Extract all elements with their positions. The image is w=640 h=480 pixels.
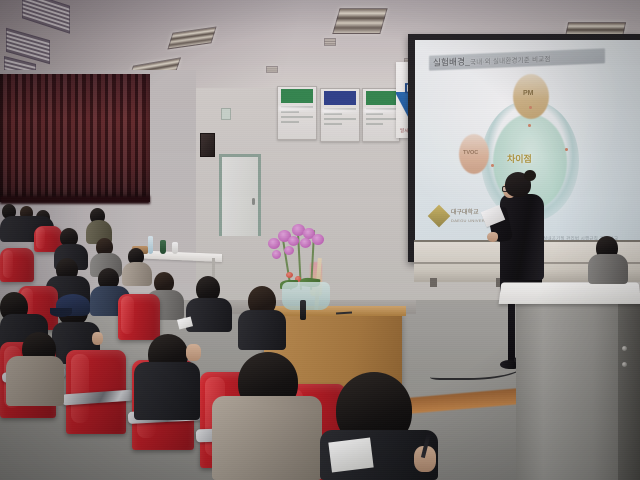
paper-cup[interactable] [172,242,178,254]
lectern-fastener-upper [622,346,627,351]
ceiling-light-8 [266,66,278,73]
poster-glare [322,108,358,113]
water-bottle[interactable] [148,236,153,254]
wall-poster-right [362,88,400,142]
poster-header [281,89,313,103]
presenter-hand [487,232,498,242]
audience-body [134,362,200,420]
audience-body [122,262,152,286]
wall-speaker [200,133,215,157]
audience-body [238,310,286,350]
cabinet-foot-left [430,278,437,287]
audience-handout-foreground [328,438,373,473]
presenter-hair-bun [524,170,536,181]
poster-glare [364,108,399,113]
slide-label-difference: 차이점 [507,152,532,165]
ceiling-light-7 [324,38,336,46]
orchid-bloom-3 [288,236,299,246]
cap-brim [50,308,72,317]
slide-node-dot-top [529,106,532,109]
audience-hand [186,344,201,361]
curtain-hem [0,196,150,204]
lectern-fastener-lower [622,362,627,367]
accent-flower-1 [286,272,293,278]
audience-body-foreground [212,396,322,480]
audience-hand [92,332,103,345]
lectern-top [499,282,640,304]
orchid-bloom-7 [312,234,324,245]
audience-body-right [588,254,628,284]
auditorium-seat[interactable] [0,248,34,282]
lecture-hall-photo: 대구 대 일시 2009. 11. 실험배경_국내·외 실내환경기준 비교점 P… [0,0,640,480]
ceiling-light-4 [332,8,387,34]
orchid-bloom-6 [300,238,311,248]
orchid-bloom-8 [284,246,294,255]
slide-label-pm: PM [523,90,534,97]
orchid-bloom-9 [272,250,281,259]
slide-node-dot-mid [528,124,531,127]
beverage-can[interactable] [160,240,166,254]
auditorium-seat[interactable] [118,294,160,340]
slide-node-dot-left [491,164,494,167]
slide-node-dot-right [565,148,568,151]
side-door[interactable] [222,157,258,236]
poster-header [324,91,356,105]
lectern-side-panel [618,292,640,480]
slide-label-tvoc: TVOC [463,150,478,156]
orchid-bloom-1 [268,238,280,249]
audience-body [6,356,64,406]
wall-placard [221,108,231,120]
microphone[interactable] [300,300,306,320]
poster-header [366,91,396,105]
door-handle[interactable] [252,198,255,205]
slide-title-main: 실험배경 [433,56,465,67]
poster-glare [279,106,315,111]
audience-body [186,298,232,332]
orchid-pot [282,282,330,310]
wall-poster-left [277,86,317,140]
wall-poster-center [320,88,360,142]
stage-curtain [0,74,150,202]
